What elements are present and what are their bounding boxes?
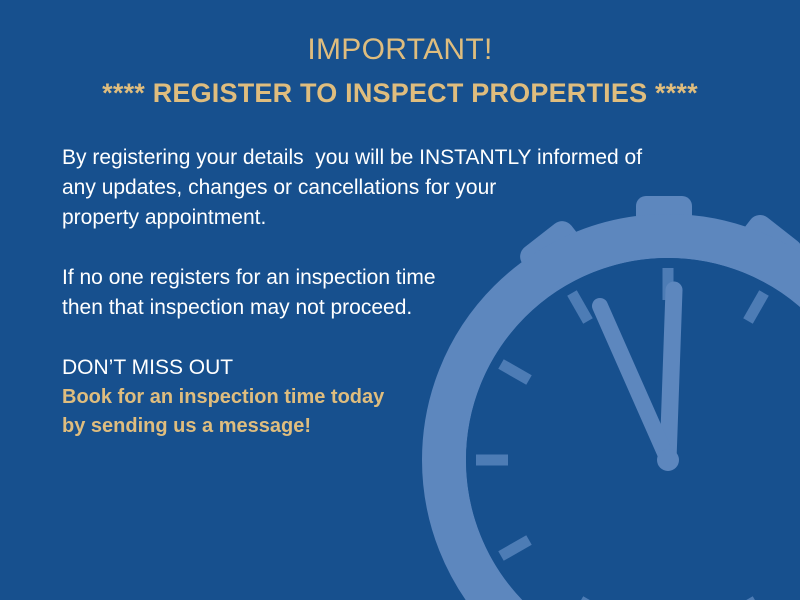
paragraph2-line1: If no one registers for an inspection ti… bbox=[62, 263, 722, 293]
body-copy: By registering your details you will be … bbox=[62, 143, 722, 441]
paragraph-registering-details: By registering your details you will be … bbox=[62, 143, 722, 233]
page-subtitle: **** REGISTER TO INSPECT PROPERTIES **** bbox=[0, 74, 800, 112]
cta-line1: DON’T MISS OUT bbox=[62, 353, 722, 383]
paragraph-spacer-1 bbox=[62, 233, 722, 263]
heading-block: IMPORTANT! **** REGISTER TO INSPECT PROP… bbox=[0, 30, 800, 112]
paragraph-no-registration-warning: If no one registers for an inspection ti… bbox=[62, 263, 722, 323]
paragraph1-line3: property appointment. bbox=[62, 203, 722, 233]
slide-canvas: IMPORTANT! **** REGISTER TO INSPECT PROP… bbox=[0, 0, 800, 600]
stopwatch-center-pin bbox=[657, 449, 679, 471]
paragraph1-line1: By registering your details you will be … bbox=[62, 143, 722, 173]
cta-line2: Book for an inspection time today bbox=[62, 383, 722, 412]
cta-dont-miss-out: DON’T MISS OUT bbox=[62, 353, 722, 383]
cta-book-inspection: Book for an inspection time today by sen… bbox=[62, 383, 722, 441]
cta-line3: by sending us a message! bbox=[62, 412, 722, 441]
page-title: IMPORTANT! bbox=[0, 30, 800, 70]
paragraph1-line2: any updates, changes or cancellations fo… bbox=[62, 173, 722, 203]
paragraph-spacer-2 bbox=[62, 323, 722, 353]
paragraph2-line2: then that inspection may not proceed. bbox=[62, 293, 722, 323]
